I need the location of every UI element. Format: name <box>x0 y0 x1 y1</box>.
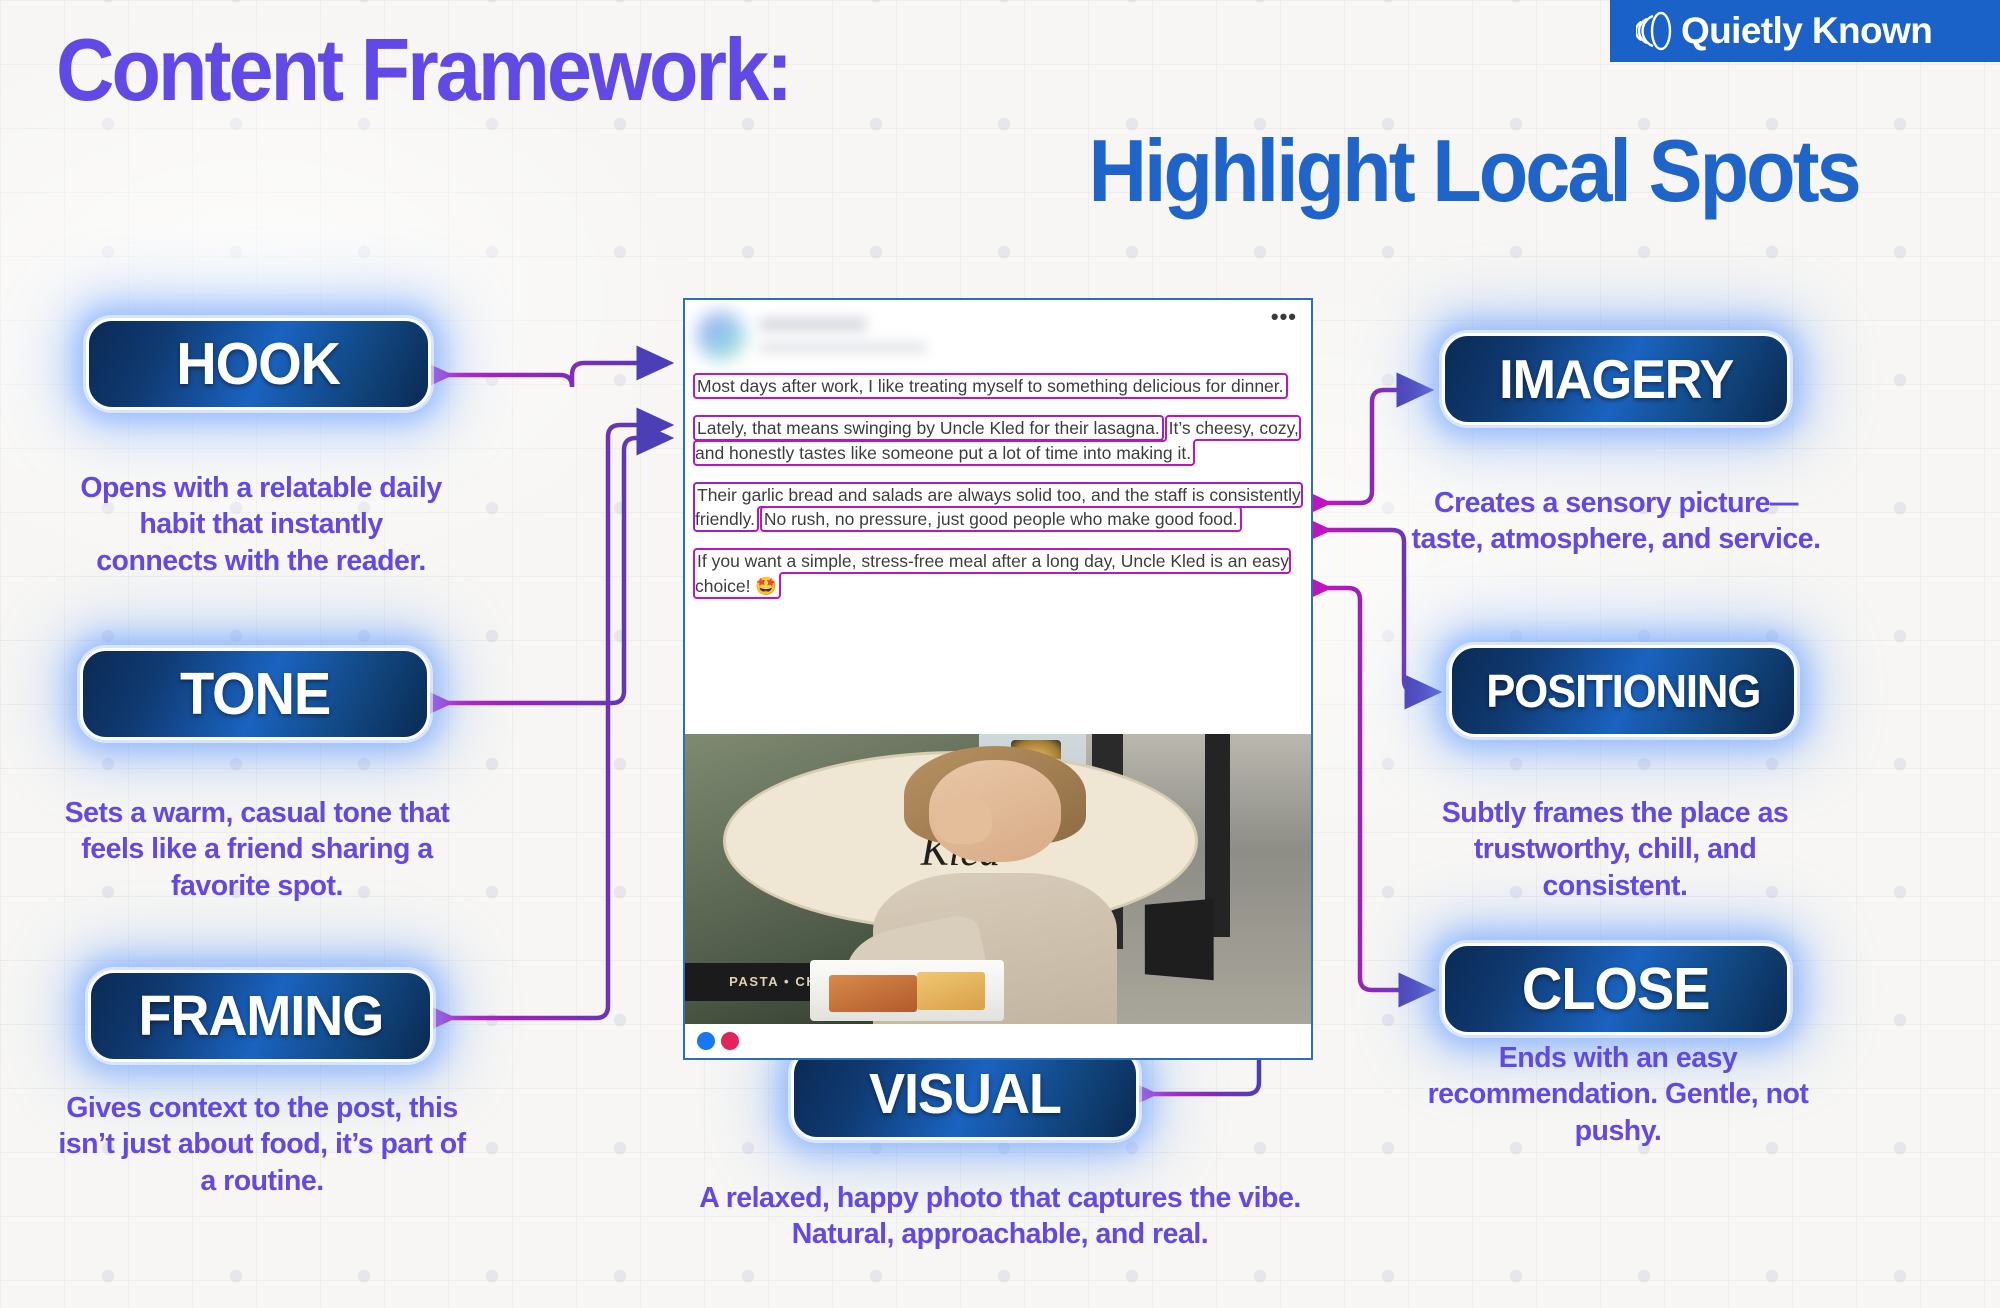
social-post-card: ••• Most days after work, I like treatin… <box>683 298 1313 1060</box>
post-reactions[interactable] <box>695 1030 741 1052</box>
label-positioning[interactable]: POSITIONING <box>1449 645 1797 737</box>
label-visual-text: VISUAL <box>869 1061 1061 1127</box>
highlight-close: If you want a simple, stress-free meal a… <box>695 550 1289 597</box>
label-imagery[interactable]: IMAGERY <box>1442 333 1790 425</box>
label-positioning-text: POSITIONING <box>1486 664 1760 718</box>
page-title: Content Framework: Highlight Local Spots <box>56 26 1936 217</box>
caption-imagery: Creates a sensory picture—taste, atmosph… <box>1406 485 1826 558</box>
label-imagery-text: IMAGERY <box>1499 347 1733 411</box>
highlight-framing: Lately, that means swinging by Uncle Kle… <box>695 417 1162 439</box>
photo-lasagna <box>829 975 917 1013</box>
title-line-1: Content Framework: <box>56 26 1786 114</box>
post-body: Most days after work, I like treating my… <box>685 372 1311 601</box>
caption-close: Ends with an easy recommendation. Gentle… <box>1418 1040 1818 1149</box>
photo-garlic-bread <box>917 972 986 1010</box>
post-paragraph-3: Their garlic bread and salads are always… <box>689 481 1307 535</box>
label-close-text: CLOSE <box>1522 955 1709 1023</box>
label-hook[interactable]: HOOK <box>86 318 431 410</box>
caption-tone: Sets a warm, casual tone that feels like… <box>52 795 462 904</box>
post-header: ••• <box>685 300 1311 372</box>
photo-scene: Uncle Kled EST.1984 PASTA • CHICKEN • SA… <box>685 734 1311 1024</box>
label-tone[interactable]: TONE <box>80 648 430 740</box>
post-meta-redacted <box>759 342 927 353</box>
label-framing-text: FRAMING <box>138 983 383 1049</box>
photo-person-hand <box>935 798 991 844</box>
caption-framing: Gives context to the post, this isn’t ju… <box>52 1090 472 1199</box>
caption-visual: A relaxed, happy photo that captures the… <box>650 1180 1350 1253</box>
post-photo: Uncle Kled EST.1984 PASTA • CHICKEN • SA… <box>685 734 1311 1024</box>
post-paragraph-2: Lately, that means swinging by Uncle Kle… <box>689 414 1307 468</box>
label-framing[interactable]: FRAMING <box>88 970 433 1062</box>
like-icon[interactable] <box>695 1030 717 1052</box>
caption-hook: Opens with a relatable daily habit that … <box>76 470 446 579</box>
post-paragraph-4: If you want a simple, stress-free meal a… <box>689 547 1307 601</box>
label-close[interactable]: CLOSE <box>1442 943 1790 1035</box>
avatar <box>697 312 745 360</box>
highlight-hook: Most days after work, I like treating my… <box>695 375 1286 397</box>
title-line-2: Highlight Local Spots <box>206 124 1936 217</box>
highlight-positioning-b: No rush, no pressure, just good people w… <box>762 508 1240 530</box>
label-visual[interactable]: VISUAL <box>791 1048 1139 1140</box>
heart-icon[interactable] <box>719 1030 741 1052</box>
label-hook-text: HOOK <box>177 330 341 398</box>
caption-positioning: Subtly frames the place as trustworthy, … <box>1400 795 1830 904</box>
post-paragraph-1: Most days after work, I like treating my… <box>689 372 1307 401</box>
photo-sidewalk-sign <box>1145 899 1214 981</box>
author-name-redacted <box>759 318 867 331</box>
more-options-icon[interactable]: ••• <box>1271 312 1297 322</box>
label-tone-text: TONE <box>180 660 330 728</box>
